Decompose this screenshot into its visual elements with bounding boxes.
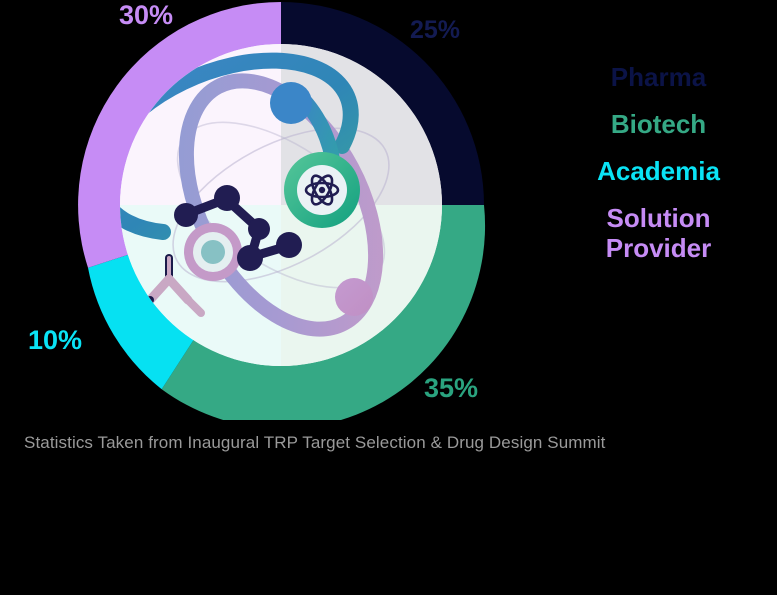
legend-item-solution-provider-line1: Solution [540, 203, 777, 233]
legend-item-biotech[interactable]: Biotech [540, 109, 777, 139]
cell-icon [184, 223, 242, 281]
pie-label-academia: 10% [28, 327, 82, 354]
legend-item-solution-provider[interactable]: Solution Provider [540, 203, 777, 263]
pie-label-solution-provider: 30% [119, 2, 173, 29]
pie-chart-svg [0, 0, 540, 420]
chart-legend: Pharma Biotech Academia Solution Provide… [540, 62, 777, 263]
chart-caption: Statistics Taken from Inaugural TRP Targ… [24, 433, 605, 453]
donut-chart: 30% 25% 10% 35% [0, 0, 540, 420]
atom-badge-icon [284, 152, 360, 228]
legend-item-pharma[interactable]: Pharma [540, 62, 777, 92]
pie-label-pharma: 25% [410, 18, 460, 43]
legend-item-academia[interactable]: Academia [540, 156, 777, 186]
atom-nucleus-icon [270, 82, 312, 124]
pie-label-biotech: 35% [424, 375, 478, 402]
legend-item-solution-provider-line2: Provider [540, 233, 777, 263]
poster-canvas: 30% 25% 10% 35% Pharma Biotech Academia … [0, 0, 777, 595]
atom-node-pink-icon [335, 278, 373, 316]
